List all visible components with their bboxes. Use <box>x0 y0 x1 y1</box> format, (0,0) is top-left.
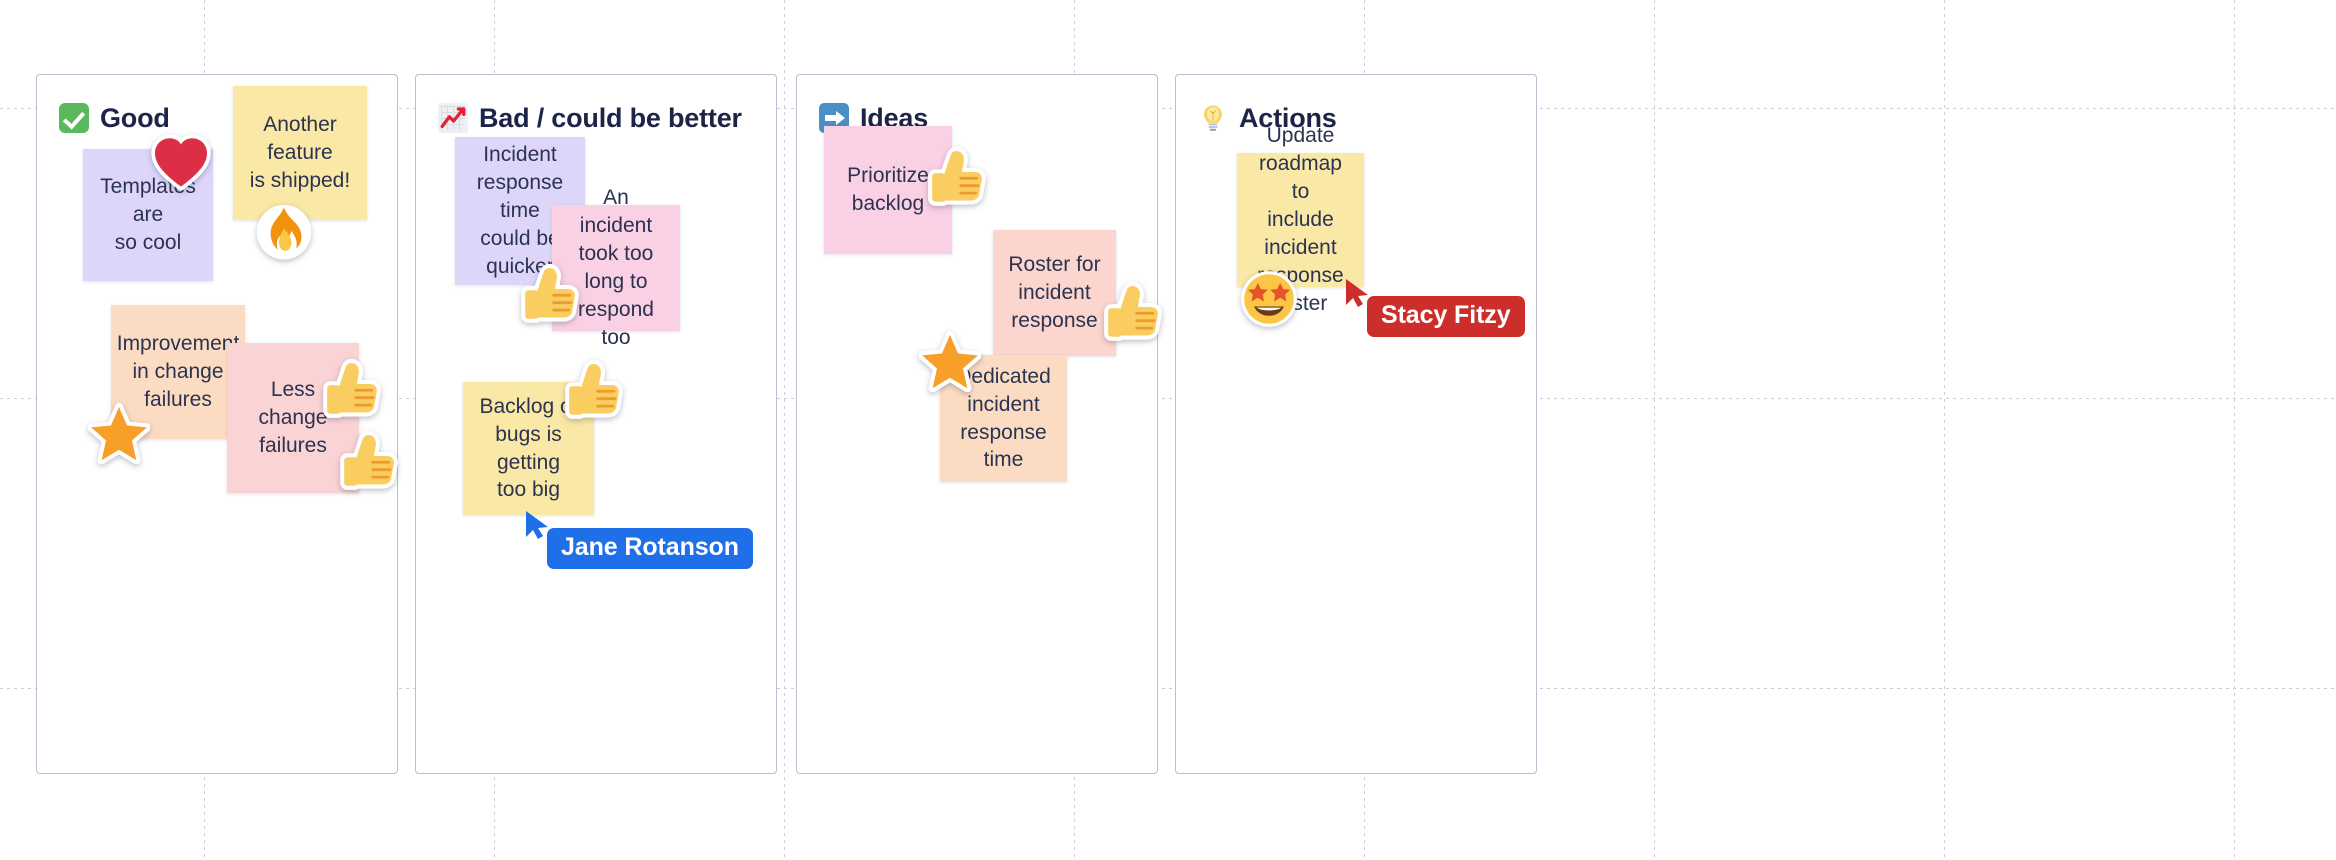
thumbs-up-icon[interactable] <box>563 359 625 421</box>
collaborator-cursor: Stacy Fitzy <box>1344 278 1525 337</box>
thumbs-up-icon[interactable] <box>338 430 400 492</box>
column-actions[interactable]: ActionsUpdate roadmap to include inciden… <box>1175 74 1537 774</box>
heart-icon[interactable] <box>150 132 212 194</box>
column-header-bad: Bad / could be better <box>416 75 776 137</box>
star-struck-icon[interactable] <box>1238 268 1300 330</box>
star-icon[interactable] <box>88 402 150 464</box>
sticky-note[interactable]: Update roadmap to include incident respo… <box>1237 153 1364 287</box>
sticky-note-text: Roster for incident response <box>994 251 1114 335</box>
thumbs-up-icon[interactable] <box>519 263 581 325</box>
column-bad[interactable]: Bad / could be betterIncident response t… <box>415 74 777 774</box>
cursor-name-label: Stacy Fitzy <box>1367 296 1525 337</box>
chart-increasing-icon <box>438 103 468 133</box>
thumbs-up-icon[interactable] <box>321 358 383 420</box>
fire-icon[interactable] <box>253 200 315 262</box>
sticky-note[interactable]: Roster for incident response <box>993 230 1116 356</box>
thumbs-up-icon[interactable] <box>926 146 988 208</box>
thumbs-up-icon[interactable] <box>1102 281 1164 343</box>
sticky-note-text: Another feature is shipped! <box>233 111 367 195</box>
column-title-bad: Bad / could be better <box>479 103 742 134</box>
collaborator-cursor: Jane Rotanson <box>524 510 753 569</box>
retrospective-board: GoodTemplates are so coolAnother feature… <box>0 0 2336 860</box>
column-good[interactable]: GoodTemplates are so coolAnother feature… <box>36 74 398 774</box>
column-title-good: Good <box>100 103 170 134</box>
column-ideas[interactable]: IdeasPrioritize backlogRoster for incide… <box>796 74 1158 774</box>
light-bulb-icon <box>1198 103 1228 133</box>
cursor-name-label: Jane Rotanson <box>547 528 753 569</box>
white-check-mark-icon <box>59 103 89 133</box>
star-icon[interactable] <box>919 330 981 392</box>
